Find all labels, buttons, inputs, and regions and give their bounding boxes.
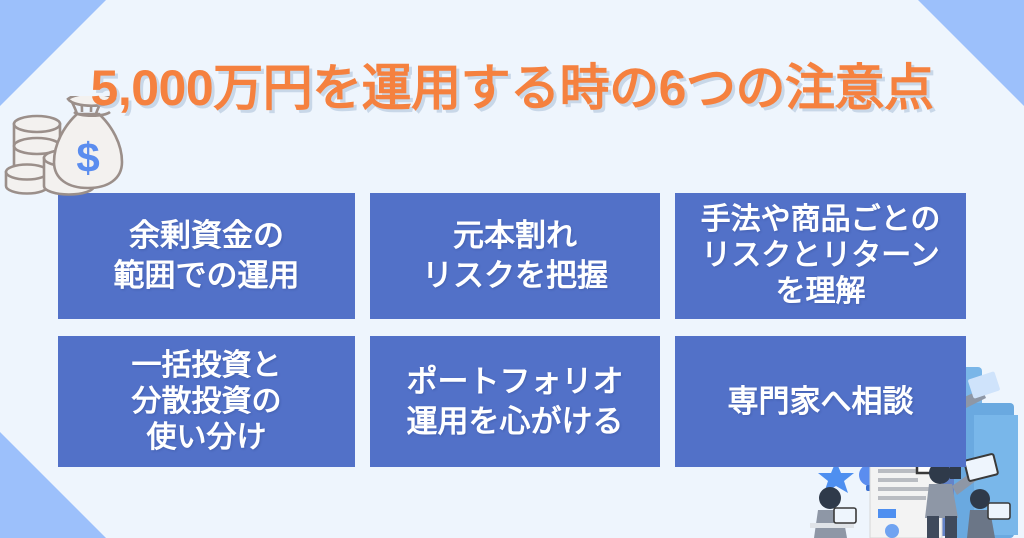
point-box-3[interactable]: 手法や商品ごとの リスクとリターン を理解 bbox=[675, 193, 966, 319]
dot-accent bbox=[885, 524, 899, 538]
point-2-line-2: リスクを把握 bbox=[422, 256, 608, 296]
point-1-line-1: 余剰資金の bbox=[129, 216, 284, 256]
point-5-line-2: 運用を心がける bbox=[407, 402, 624, 442]
point-4-line-2: 分散投資の bbox=[132, 384, 282, 420]
point-3-line-1: 手法や商品ごとの bbox=[701, 202, 941, 238]
points-grid: 余剰資金の 範囲での運用 元本割れ リスクを把握 手法や商品ごとの リスクとリタ… bbox=[58, 193, 966, 467]
point-box-6[interactable]: 専門家へ相談 bbox=[675, 336, 966, 467]
point-box-4[interactable]: 一括投資と 分散投資の 使い分け bbox=[58, 336, 355, 467]
point-1-line-2: 範囲での運用 bbox=[114, 256, 300, 296]
point-6-line-1: 専門家へ相談 bbox=[728, 382, 914, 422]
point-3-line-2: リスクとリターン bbox=[701, 238, 940, 274]
point-5-line-1: ポートフォリオ bbox=[407, 362, 624, 402]
point-box-1[interactable]: 余剰資金の 範囲での運用 bbox=[58, 193, 355, 319]
person-at-desk bbox=[810, 487, 856, 538]
point-4-line-1: 一括投資と bbox=[132, 348, 282, 384]
infographic-canvas: $ bbox=[0, 0, 1024, 538]
point-box-5[interactable]: ポートフォリオ 運用を心がける bbox=[370, 336, 660, 467]
page-title: 5,000万円を運用する時の6つの注意点 bbox=[0, 48, 1024, 120]
dollar-sign-icon: $ bbox=[76, 134, 99, 181]
point-4-line-3: 使い分け bbox=[147, 420, 267, 456]
point-3-line-3: を理解 bbox=[776, 274, 866, 310]
point-box-2[interactable]: 元本割れ リスクを把握 bbox=[370, 193, 660, 319]
point-2-line-1: 元本割れ bbox=[453, 216, 577, 256]
